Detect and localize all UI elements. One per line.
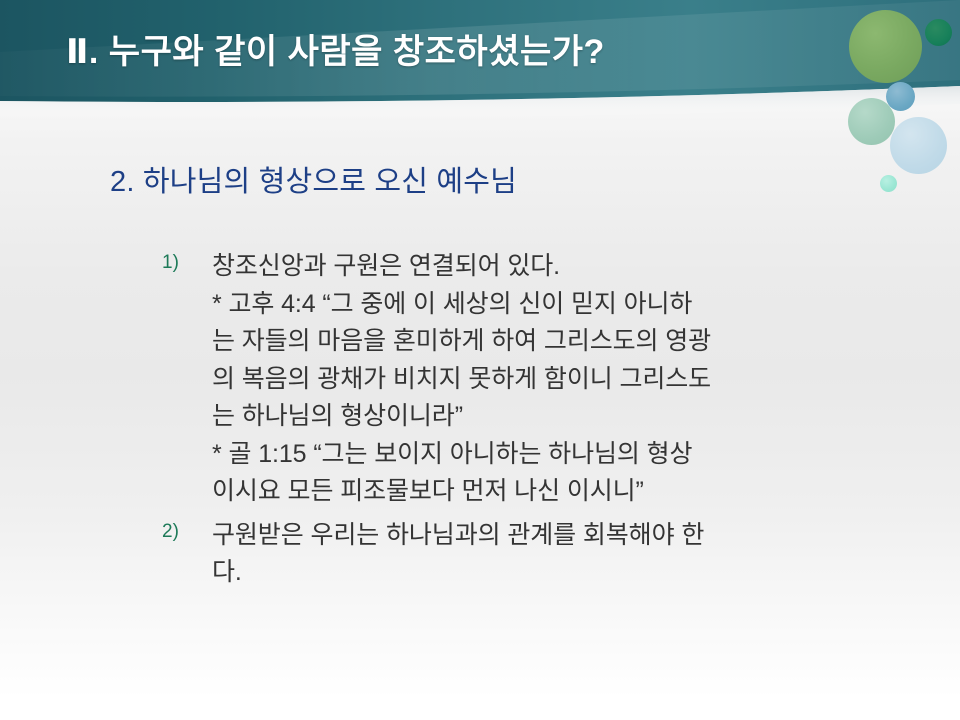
slide-content: 2. 하나님의 형상으로 오신 예수님 1) 창조신앙과 구원은 연결되어 있다… — [0, 120, 960, 720]
text-line: 의 복음의 광채가 비치지 못하게 함이니 그리스도 — [212, 361, 900, 399]
list-item: 2) 구원받은 우리는 하나님과의 관계를 회복해야 한 다. — [160, 517, 900, 592]
list-item-marker: 1) — [162, 252, 202, 274]
list-item-marker: 2) — [162, 521, 202, 543]
text-line: 이시요 모든 피조물보다 먼저 나신 이시니” — [212, 473, 900, 511]
presentation-slide: Ⅱ. 누구와 같이 사람을 창조하셨는가? 2. 하나님의 형상으로 오신 예수… — [0, 0, 960, 720]
text-line: * 고후 4:4 “그 중에 이 세상의 신이 믿지 아니하 — [212, 286, 900, 324]
text-line: 는 하나님의 형상이니라” — [212, 398, 900, 436]
text-line: * 골 1:15 “그는 보이지 아니하는 하나님의 형상 — [212, 436, 900, 474]
points-list: 1) 창조신앙과 구원은 연결되어 있다. * 고후 4:4 “그 중에 이 세… — [160, 248, 900, 598]
text-line: 는 자들의 마음을 혼미하게 하여 그리스도의 영광 — [212, 323, 900, 361]
text-line: 창조신앙과 구원은 연결되어 있다. — [212, 248, 900, 286]
list-item: 1) 창조신앙과 구원은 연결되어 있다. * 고후 4:4 “그 중에 이 세… — [160, 248, 900, 511]
section-heading: 2. 하나님의 형상으로 오신 예수님 — [110, 158, 517, 200]
text-line: 다. — [212, 554, 900, 592]
slide-title: Ⅱ. 누구와 같이 사람을 창조하셨는가? — [66, 26, 826, 78]
list-item-body: 창조신앙과 구원은 연결되어 있다. * 고후 4:4 “그 중에 이 세상의 … — [212, 248, 900, 511]
list-item-body: 구원받은 우리는 하나님과의 관계를 회복해야 한 다. — [212, 517, 900, 592]
text-line: 구원받은 우리는 하나님과의 관계를 회복해야 한 — [212, 517, 900, 555]
